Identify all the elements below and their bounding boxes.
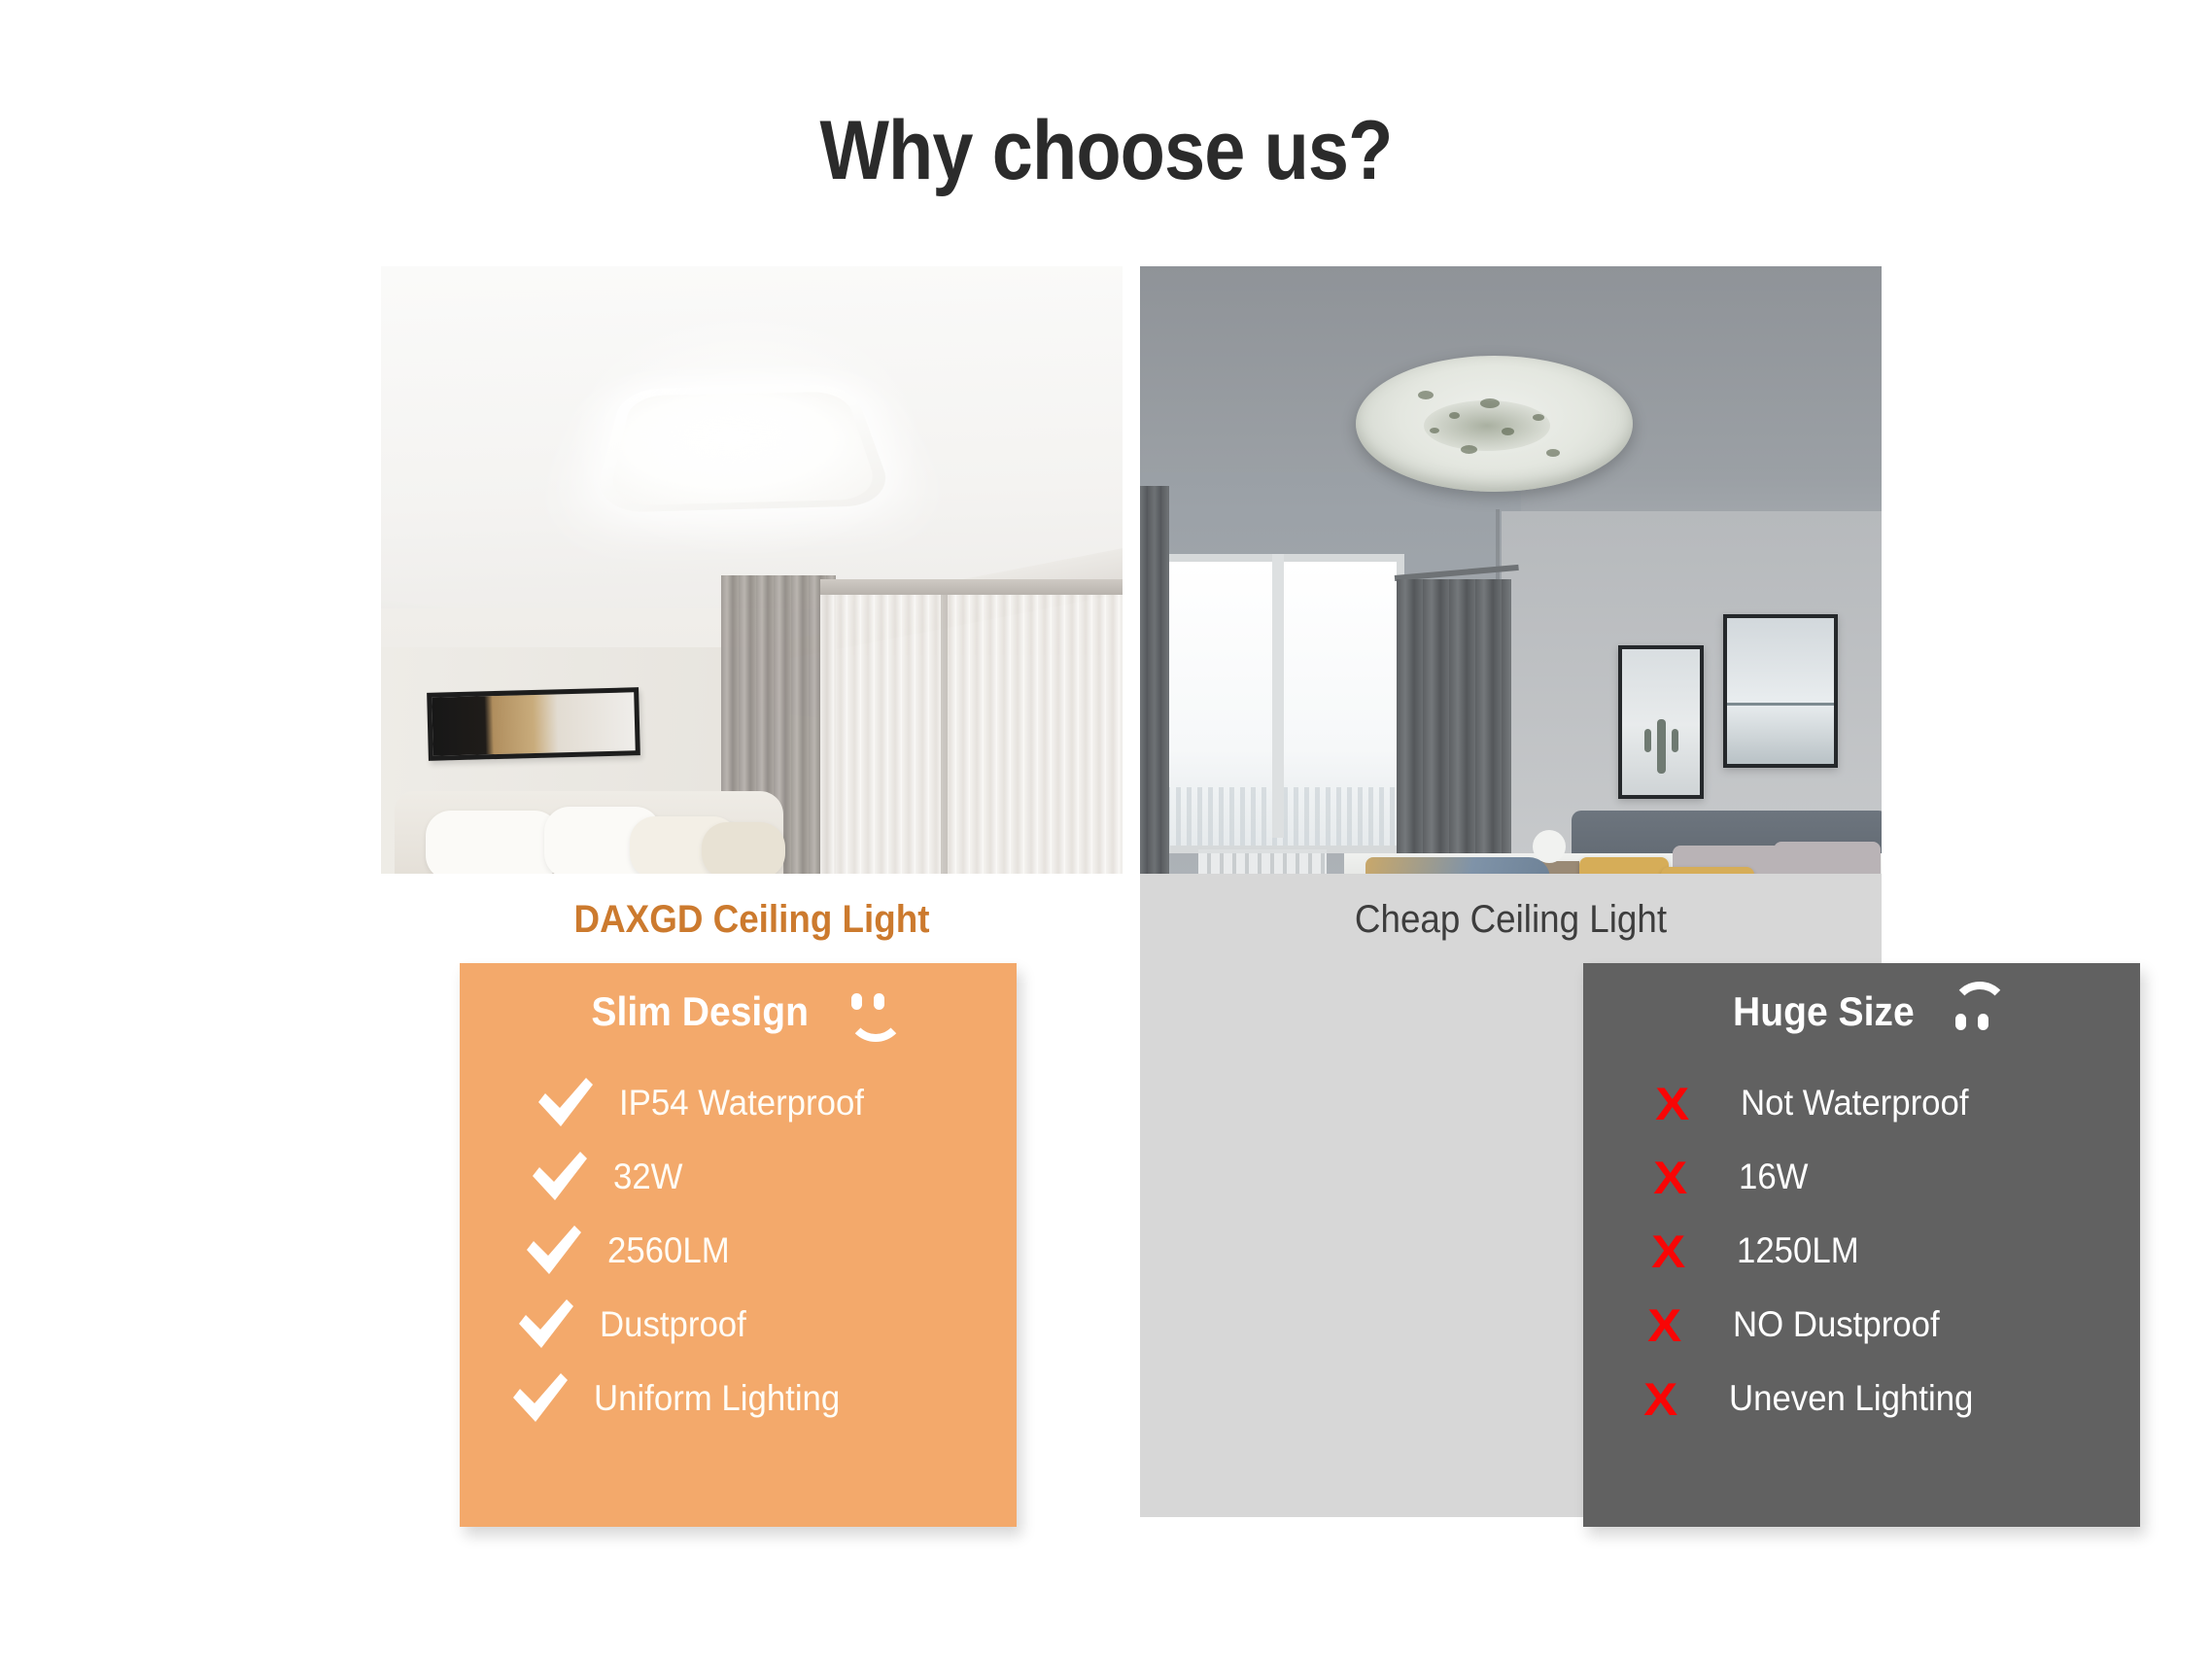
spec-panel-good-header: Slim Design	[460, 963, 1017, 1060]
spec-list-good: IP54 Waterproof 32W 2560LM	[460, 1060, 1017, 1435]
spec-row: X NO Dustproof	[1649, 1288, 2140, 1362]
spec-row: Dustproof	[516, 1288, 1017, 1362]
spec-row: 32W	[530, 1140, 1017, 1214]
pillow	[426, 811, 560, 874]
pillow-yellow	[1661, 867, 1754, 874]
check-icon	[524, 1224, 607, 1278]
x-icon: X	[1649, 1302, 1733, 1348]
spec-panel-good-heading: Slim Design	[592, 988, 810, 1035]
x-icon: X	[1657, 1081, 1741, 1126]
x-icon: X	[1655, 1155, 1739, 1200]
wall-artwork	[427, 687, 640, 761]
pillow-yellow	[1579, 857, 1669, 874]
caption-good: DAXGD Ceiling Light	[411, 874, 1093, 966]
check-icon	[536, 1076, 619, 1130]
smiley-face-icon	[843, 991, 893, 1032]
radiator	[1198, 849, 1327, 874]
spec-row: X Not Waterproof	[1657, 1066, 2140, 1140]
x-icon: X	[1645, 1376, 1729, 1422]
cactus-illustration	[1657, 719, 1666, 774]
spec-panel-bad-header: Huge Size	[1583, 963, 2140, 1060]
pillow	[1774, 842, 1881, 874]
curtain-left	[1140, 486, 1169, 874]
spec-row: Uniform Lighting	[510, 1362, 1017, 1435]
framed-art-cactus	[1618, 645, 1704, 799]
blanket	[1365, 857, 1550, 874]
spec-row: X Uneven Lighting	[1645, 1362, 2140, 1435]
spec-panel-good: Slim Design IP54 Waterproof 32W	[460, 963, 1017, 1527]
comparison-section: DAXGD Ceiling Light Slim Design IP54 Wat…	[381, 266, 1882, 1530]
check-icon	[510, 1371, 594, 1426]
lamp-diffuser	[606, 392, 881, 506]
spec-panel-bad-heading: Huge Size	[1733, 988, 1915, 1035]
window-mullion	[1272, 554, 1284, 838]
curtain-rail	[820, 579, 1123, 595]
spec-list-bad: X Not Waterproof X 16W X 1250LM	[1583, 1060, 2140, 1435]
spec-row: 2560LM	[524, 1214, 1017, 1288]
round-ceiling-lamp-dirty	[1356, 356, 1633, 492]
horizon-line	[1727, 703, 1834, 706]
framed-art-landscape	[1723, 614, 1838, 768]
sad-face-icon	[1947, 991, 1997, 1032]
check-icon	[516, 1297, 600, 1352]
square-ceiling-lamp	[592, 385, 897, 513]
product-photo-good	[381, 266, 1123, 874]
table-lamp	[1533, 830, 1566, 863]
product-photo-bad	[1140, 266, 1882, 874]
x-icon: X	[1653, 1228, 1737, 1274]
comparison-column-good: DAXGD Ceiling Light Slim Design IP54 Wat…	[381, 266, 1123, 1530]
caption-bad: Cheap Ceiling Light	[1170, 874, 1852, 966]
spec-row: IP54 Waterproof	[536, 1066, 1017, 1140]
check-icon	[530, 1150, 613, 1204]
comparison-column-bad: Cheap Ceiling Light Huge Size X Not Wate…	[1140, 266, 1882, 1530]
spec-panel-bad: Huge Size X Not Waterproof X	[1583, 963, 2140, 1527]
window-mullion	[941, 595, 948, 874]
page-title: Why choose us?	[133, 103, 2080, 199]
spec-row: X 1250LM	[1653, 1214, 2140, 1288]
spec-row: X 16W	[1655, 1140, 2140, 1214]
pillow	[702, 822, 785, 874]
sheer-curtain	[820, 583, 1123, 874]
curtain-right	[1397, 579, 1511, 874]
